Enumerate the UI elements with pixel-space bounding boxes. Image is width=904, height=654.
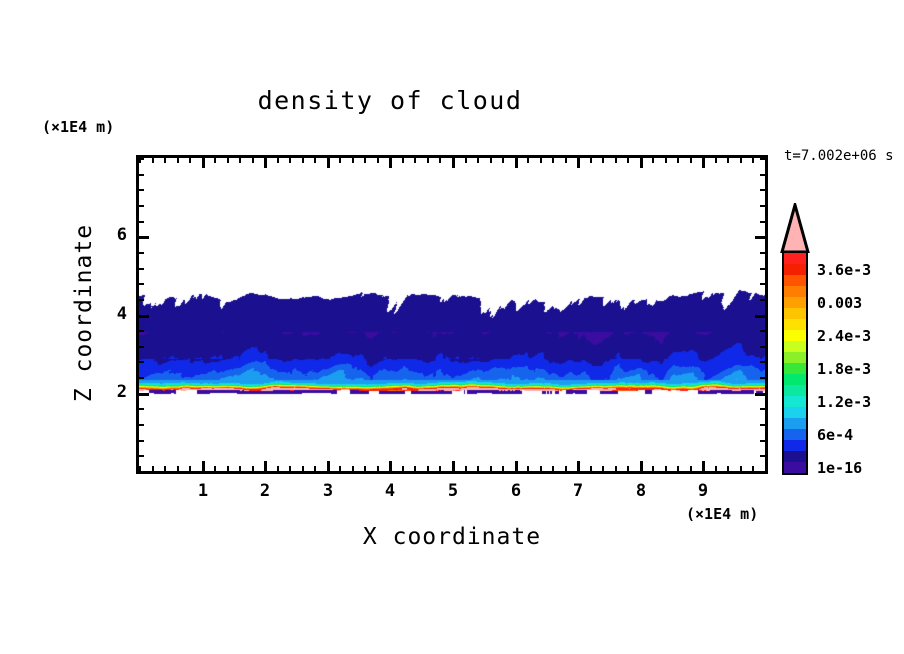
x-minor-tick [477, 466, 479, 471]
x-minor-tick [289, 466, 291, 471]
x-minor-tick [652, 466, 654, 471]
colorbar-band [784, 374, 806, 385]
x-major-tick [452, 461, 455, 471]
x-tick-label: 4 [375, 481, 405, 501]
x-tick-label: 6 [501, 481, 531, 501]
colorbar-band [784, 407, 806, 418]
x-minor-tick [189, 466, 191, 471]
x-minor-tick [402, 158, 404, 163]
y-minor-tick [139, 221, 144, 223]
x-minor-tick [677, 466, 679, 471]
colorbar-band [784, 451, 806, 462]
colorbar-band [784, 440, 806, 451]
y-minor-tick [139, 283, 144, 285]
y-minor-tick [760, 158, 765, 160]
y-axis-title: Z coordinate [71, 203, 97, 423]
y-minor-tick [139, 205, 144, 207]
x-minor-tick [565, 158, 567, 163]
x-minor-tick [277, 466, 279, 471]
x-minor-tick [690, 466, 692, 471]
colorbar-tick-label: 0.003 [817, 294, 862, 312]
y-minor-tick [139, 455, 144, 457]
colorbar-bands [782, 251, 808, 475]
x-minor-tick [627, 466, 629, 471]
x-major-tick [702, 461, 705, 471]
x-minor-tick [427, 158, 429, 163]
y-major-tick [139, 315, 149, 318]
x-tick-label: 9 [688, 481, 718, 501]
x-minor-tick [502, 466, 504, 471]
x-minor-tick [665, 158, 667, 163]
x-minor-tick [227, 466, 229, 471]
x-minor-tick [164, 466, 166, 471]
y-minor-tick [139, 361, 144, 363]
x-major-tick [640, 158, 643, 168]
x-minor-tick [677, 158, 679, 163]
x-tick-label: 7 [563, 481, 593, 501]
x-minor-tick [164, 158, 166, 163]
x-minor-tick [364, 158, 366, 163]
x-minor-tick [214, 466, 216, 471]
x-minor-tick [602, 466, 604, 471]
x-minor-tick [252, 466, 254, 471]
y-tick-label: 4 [97, 304, 127, 324]
x-tick-label: 8 [626, 481, 656, 501]
x-major-tick [264, 461, 267, 471]
x-minor-tick [590, 466, 592, 471]
colorbar-band [784, 319, 806, 330]
x-minor-tick [465, 466, 467, 471]
x-major-tick [327, 461, 330, 471]
y-minor-tick [760, 424, 765, 426]
x-minor-tick [214, 158, 216, 163]
chart-title: density of cloud [0, 86, 780, 115]
x-minor-tick [439, 158, 441, 163]
y-major-tick [139, 393, 149, 396]
x-minor-tick [252, 158, 254, 163]
colorbar-band [784, 308, 806, 319]
x-minor-tick [465, 158, 467, 163]
x-minor-tick [314, 466, 316, 471]
colorbar-band [784, 385, 806, 396]
x-tick-label: 3 [313, 481, 343, 501]
y-minor-tick [139, 252, 144, 254]
y-major-tick [755, 236, 765, 239]
y-minor-tick [760, 189, 765, 191]
y-minor-tick [139, 174, 144, 176]
x-axis-title: X coordinate [136, 524, 768, 550]
x-major-tick [515, 461, 518, 471]
colorbar-band [784, 264, 806, 275]
y-minor-tick [760, 408, 765, 410]
y-tick-label: 6 [97, 225, 127, 245]
colorbar-band [784, 429, 806, 440]
x-major-tick [640, 461, 643, 471]
x-major-tick [389, 158, 392, 168]
colorbar-band [784, 286, 806, 297]
y-minor-tick [760, 346, 765, 348]
colorbar-tick-label: 1.2e-3 [817, 393, 871, 411]
y-major-tick [755, 315, 765, 318]
colorbar-tick-label: 1.8e-3 [817, 360, 871, 378]
x-tick-label: 5 [438, 481, 468, 501]
x-minor-tick [152, 466, 154, 471]
x-major-tick [577, 158, 580, 168]
x-minor-tick [740, 466, 742, 471]
y-minor-tick [139, 268, 144, 270]
x-minor-tick [727, 158, 729, 163]
figure-root: density of cloud (×1E4 m) (×1E4 m) t=7.0… [0, 0, 904, 654]
y-minor-tick [139, 424, 144, 426]
x-major-tick [202, 461, 205, 471]
x-minor-tick [477, 158, 479, 163]
x-minor-tick [490, 158, 492, 163]
y-minor-tick [139, 189, 144, 191]
y-minor-tick [760, 440, 765, 442]
x-minor-tick [715, 466, 717, 471]
x-minor-tick [527, 466, 529, 471]
colorbar-tick-label: 1e-16 [817, 459, 862, 477]
x-minor-tick [289, 158, 291, 163]
y-minor-tick [760, 471, 765, 473]
x-minor-tick [615, 466, 617, 471]
x-minor-tick [765, 466, 767, 471]
x-minor-tick [364, 466, 366, 471]
x-minor-tick [565, 466, 567, 471]
x-major-tick [264, 158, 267, 168]
x-minor-tick [540, 466, 542, 471]
x-minor-tick [377, 158, 379, 163]
x-minor-tick [339, 158, 341, 163]
colorbar-band [784, 352, 806, 363]
x-minor-tick [189, 158, 191, 163]
x-minor-tick [302, 158, 304, 163]
y-axis-unit-label: (×1E4 m) [42, 118, 114, 136]
y-minor-tick [760, 330, 765, 332]
y-minor-tick [760, 205, 765, 207]
y-minor-tick [760, 299, 765, 301]
y-major-tick [755, 393, 765, 396]
x-minor-tick [152, 158, 154, 163]
colorbar-band [784, 253, 806, 264]
x-minor-tick [239, 466, 241, 471]
y-minor-tick [139, 330, 144, 332]
x-axis-unit-label: (×1E4 m) [686, 505, 758, 523]
x-minor-tick [414, 466, 416, 471]
colorbar-band [784, 330, 806, 341]
y-minor-tick [760, 455, 765, 457]
x-minor-tick [377, 466, 379, 471]
x-minor-tick [540, 158, 542, 163]
y-minor-tick [139, 408, 144, 410]
x-minor-tick [302, 466, 304, 471]
x-minor-tick [414, 158, 416, 163]
x-minor-tick [502, 158, 504, 163]
colorbar-band [784, 418, 806, 429]
x-minor-tick [227, 158, 229, 163]
x-minor-tick [314, 158, 316, 163]
y-minor-tick [139, 377, 144, 379]
x-minor-tick [652, 158, 654, 163]
y-minor-tick [139, 299, 144, 301]
x-minor-tick [352, 158, 354, 163]
x-minor-tick [740, 158, 742, 163]
x-minor-tick [239, 158, 241, 163]
x-minor-tick [727, 466, 729, 471]
x-minor-tick [427, 466, 429, 471]
y-minor-tick [139, 346, 144, 348]
colorbar-band [784, 462, 806, 473]
x-minor-tick [665, 466, 667, 471]
x-major-tick [327, 158, 330, 168]
x-minor-tick [177, 466, 179, 471]
colorbar-tick-label: 3.6e-3 [817, 261, 871, 279]
x-minor-tick [527, 158, 529, 163]
x-minor-tick [552, 466, 554, 471]
x-minor-tick [352, 466, 354, 471]
x-major-tick [452, 158, 455, 168]
x-minor-tick [402, 466, 404, 471]
x-minor-tick [715, 158, 717, 163]
y-minor-tick [760, 361, 765, 363]
colorbar-band [784, 297, 806, 308]
y-minor-tick [760, 283, 765, 285]
y-minor-tick [139, 471, 144, 473]
y-minor-tick [760, 221, 765, 223]
x-minor-tick [602, 158, 604, 163]
time-annotation: t=7.002e+06 s [784, 148, 894, 164]
y-minor-tick [760, 377, 765, 379]
colorbar-band [784, 275, 806, 286]
x-minor-tick [590, 158, 592, 163]
x-minor-tick [277, 158, 279, 163]
y-major-tick [139, 236, 149, 239]
x-minor-tick [177, 158, 179, 163]
x-tick-label: 2 [250, 481, 280, 501]
colorbar-tick-label: 2.4e-3 [817, 327, 871, 345]
y-minor-tick [139, 158, 144, 160]
x-major-tick [202, 158, 205, 168]
x-minor-tick [490, 466, 492, 471]
y-tick-label: 2 [97, 382, 127, 402]
x-minor-tick [552, 158, 554, 163]
plot-area [136, 155, 768, 474]
x-major-tick [702, 158, 705, 168]
colorbar-band [784, 396, 806, 407]
y-minor-tick [760, 174, 765, 176]
colorbar-tick-label: 6e-4 [817, 426, 853, 444]
x-major-tick [515, 158, 518, 168]
colorbar-over-arrow [779, 203, 811, 253]
x-minor-tick [752, 466, 754, 471]
x-minor-tick [439, 466, 441, 471]
x-minor-tick [339, 466, 341, 471]
x-minor-tick [627, 158, 629, 163]
colorbar-band [784, 363, 806, 374]
y-minor-tick [760, 268, 765, 270]
y-minor-tick [139, 440, 144, 442]
contour-field [139, 158, 765, 471]
x-major-tick [577, 461, 580, 471]
x-minor-tick [752, 158, 754, 163]
x-minor-tick [615, 158, 617, 163]
x-minor-tick [690, 158, 692, 163]
x-tick-label: 1 [188, 481, 218, 501]
x-major-tick [389, 461, 392, 471]
x-minor-tick [765, 158, 767, 163]
colorbar-band [784, 341, 806, 352]
y-minor-tick [760, 252, 765, 254]
